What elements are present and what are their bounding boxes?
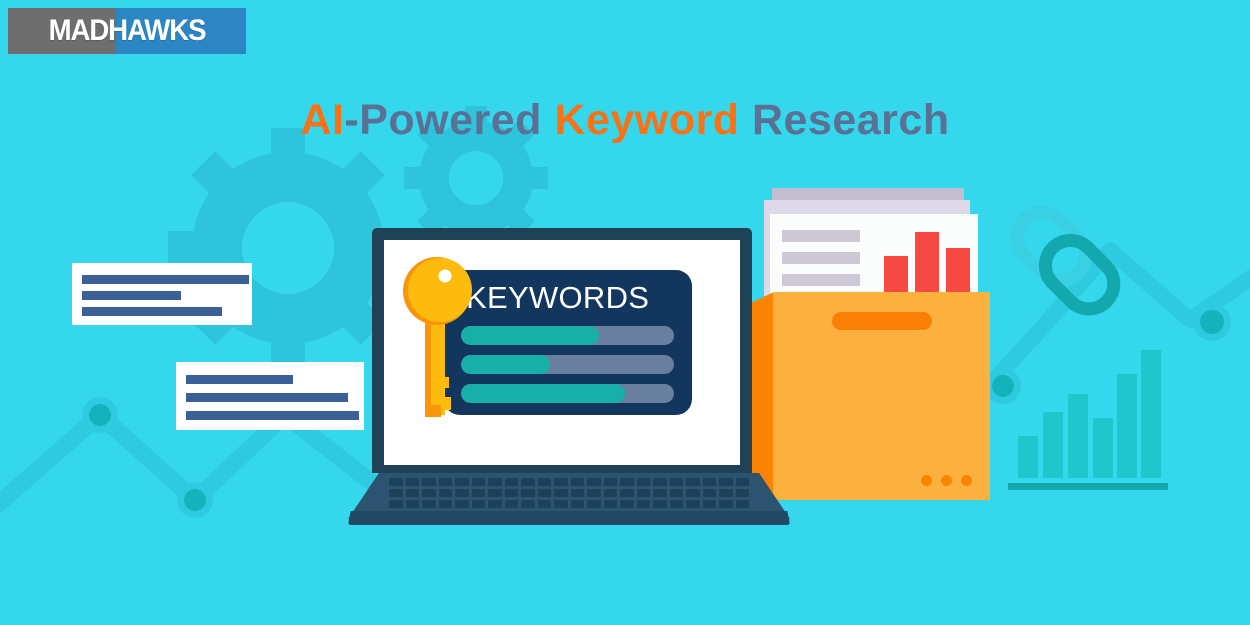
chain-link-icon: [1007, 202, 1124, 319]
brand-logo[interactable]: MADHAWKS: [8, 8, 246, 54]
keyboard-key: [637, 500, 651, 508]
info-card-bottom-left: [176, 362, 364, 430]
banner-canvas: MADHAWKS AI-Powered Keyword Research: [0, 0, 1250, 625]
keyboard-key: [703, 478, 717, 486]
keyboard-key: [736, 500, 750, 508]
keyboard-key: [439, 500, 453, 508]
keyboard-key: [686, 489, 700, 497]
info-line: [186, 393, 348, 402]
keyboard-key: [587, 489, 601, 497]
keyboard-key: [472, 478, 486, 486]
keyboard-key: [488, 500, 502, 508]
keyboard-key: [670, 500, 684, 508]
laptop-foot: [348, 511, 790, 525]
keyboard-key: [670, 478, 684, 486]
key-icon: [403, 255, 475, 420]
keyword-progress-group: [461, 326, 674, 413]
keyboard-key: [736, 489, 750, 497]
keyboard-key: [604, 500, 618, 508]
folder-handle[interactable]: [832, 312, 932, 330]
document-mini-bar-chart: [880, 232, 974, 294]
keyboard-key: [505, 478, 519, 486]
keyboard-key: [703, 500, 717, 508]
progress-fill: [461, 384, 625, 403]
keyboard-key: [686, 478, 700, 486]
info-line: [186, 375, 293, 384]
keyword-progress-3: [461, 384, 674, 403]
info-line: [82, 275, 249, 284]
keyboard-key: [406, 478, 420, 486]
info-line: [82, 307, 222, 316]
keyboard-key: [719, 478, 733, 486]
keyboard-key: [538, 489, 552, 497]
title-part-powered: -Powered: [344, 96, 554, 144]
keyboard-key: [406, 500, 420, 508]
info-line: [186, 411, 359, 420]
keyboard-key: [389, 489, 403, 497]
mini-bar: [946, 248, 970, 294]
keyboard-key: [422, 489, 436, 497]
keyboard-key: [719, 489, 733, 497]
keyboard-key: [505, 489, 519, 497]
keywords-card: KEYWORDS: [444, 270, 692, 415]
keyboard-key: [620, 478, 634, 486]
keyboard-key: [653, 478, 667, 486]
keyboard-key: [439, 489, 453, 497]
keyboard-key: [736, 478, 750, 486]
keyboard-key: [587, 500, 601, 508]
keyboard-key: [587, 478, 601, 486]
keyboard-key: [505, 500, 519, 508]
folder-dot: [961, 475, 972, 486]
mini-bar: [884, 256, 908, 294]
keyboard-row: [389, 478, 749, 486]
document-text-line: [782, 252, 860, 264]
keyboard-key: [604, 478, 618, 486]
bar-chart-graphic: [1008, 350, 1168, 490]
keyboard-key: [389, 500, 403, 508]
keyboard-key: [455, 489, 469, 497]
keyboard-key: [521, 489, 535, 497]
keyboard-key: [521, 478, 535, 486]
keyboard-key: [571, 489, 585, 497]
folder-dots-group[interactable]: [921, 475, 972, 486]
keyboard-key: [538, 500, 552, 508]
keyboard-key: [620, 489, 634, 497]
keyboard-key: [571, 500, 585, 508]
keyboard-key: [571, 478, 585, 486]
logo-text: MADHAWKS: [18, 14, 237, 48]
keyboard-key: [389, 478, 403, 486]
keyboard-key: [455, 478, 469, 486]
keyboard-key: [488, 489, 502, 497]
mini-bar: [915, 232, 939, 294]
keyboard-key: [653, 500, 667, 508]
keyboard-key: [604, 489, 618, 497]
keyboard-key: [637, 489, 651, 497]
keyboard-key: [439, 478, 453, 486]
title-part-research: Research: [752, 96, 950, 144]
keyboard-row: [389, 489, 749, 497]
keyboard-key: [455, 500, 469, 508]
keyword-progress-2: [461, 355, 674, 374]
keyboard-key: [406, 489, 420, 497]
keyword-progress-1: [461, 326, 674, 345]
keyboard-key: [637, 478, 651, 486]
keyboard-key: [538, 478, 552, 486]
document-text-line: [782, 274, 860, 286]
keyboard-key: [554, 478, 568, 486]
keyboard-key: [554, 500, 568, 508]
laptop-keyboard[interactable]: [389, 478, 749, 511]
keyboard-key: [422, 478, 436, 486]
folder-dot: [941, 475, 952, 486]
info-line: [82, 291, 181, 300]
title-part-ai: AI: [300, 96, 344, 144]
keywords-card-title: KEYWORDS: [466, 280, 649, 316]
keyboard-key: [422, 500, 436, 508]
keyboard-key: [472, 489, 486, 497]
progress-fill: [461, 326, 599, 345]
keyboard-key: [620, 500, 634, 508]
document-text-line: [782, 230, 860, 242]
info-card-top-left: [72, 263, 252, 325]
keyboard-row: [389, 500, 749, 508]
keyboard-key: [488, 478, 502, 486]
keyboard-key: [719, 500, 733, 508]
folder-dot: [921, 475, 932, 486]
keyboard-key: [521, 500, 535, 508]
keyboard-key: [472, 500, 486, 508]
keyboard-key: [653, 489, 667, 497]
keyboard-key: [686, 500, 700, 508]
keyboard-key: [554, 489, 568, 497]
page-title: AI-Powered Keyword Research: [0, 96, 1250, 145]
keyboard-key: [670, 489, 684, 497]
keyboard-key: [703, 489, 717, 497]
title-part-keyword: Keyword: [554, 96, 752, 144]
